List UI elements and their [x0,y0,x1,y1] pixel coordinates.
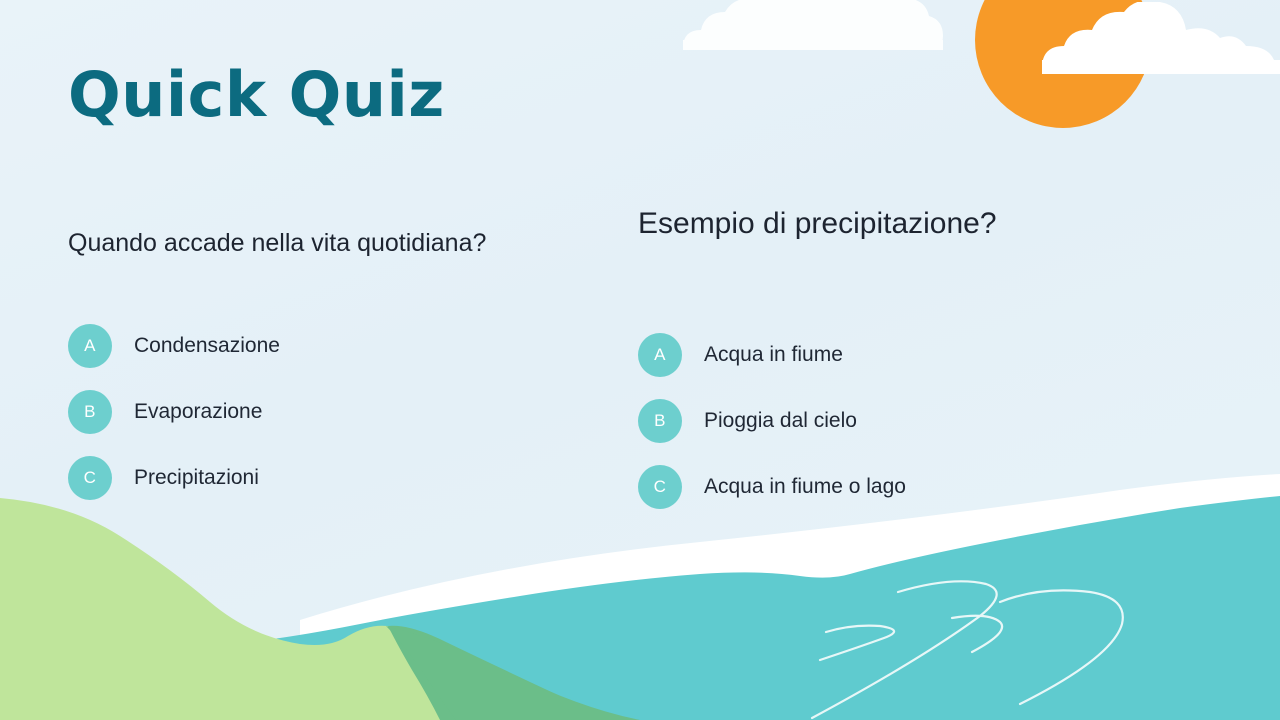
list-item[interactable]: A Condensazione [68,324,608,368]
list-item[interactable]: C Acqua in fiume o lago [638,465,1198,509]
option-label: Acqua in fiume o lago [704,475,906,499]
option-label: Pioggia dal cielo [704,409,857,433]
option-label: Condensazione [134,334,280,358]
cloud-right-icon [1040,2,1280,78]
foam-lip-shape [150,658,193,680]
option-label: Precipitazioni [134,466,259,490]
option-badge-b: B [638,399,682,443]
option-badge-c: C [638,465,682,509]
quiz-column-left: Quando accade nella vita quotidiana? A C… [68,228,608,522]
quiz-slide: Quick Quiz Quando accade nella vita quot… [0,0,1280,720]
quiz-column-right: Esempio di precipitazione? A Acqua in fi… [638,205,1198,531]
option-badge-c: C [68,456,112,500]
list-item[interactable]: B Evaporazione [68,390,608,434]
question-right: Esempio di precipitazione? [638,205,1198,243]
question-left: Quando accade nella vita quotidiana? [68,228,608,259]
option-label: Evaporazione [134,400,262,424]
list-item[interactable]: C Precipitazioni [68,456,608,500]
option-list-right: A Acqua in fiume B Pioggia dal cielo C A… [638,333,1198,509]
list-item[interactable]: B Pioggia dal cielo [638,399,1198,443]
sun-icon [975,0,1151,128]
hill-dark-shape-2 [386,626,640,720]
hill-dark-shape [388,626,640,720]
hill-light-shape [0,498,500,720]
cloud-left-icon [675,0,955,56]
option-badge-b: B [68,390,112,434]
option-label: Acqua in fiume [704,343,843,367]
option-list-left: A Condensazione B Evaporazione C Precipi… [68,324,608,500]
option-badge-a: A [68,324,112,368]
page-title: Quick Quiz [68,58,445,131]
option-badge-a: A [638,333,682,377]
list-item[interactable]: A Acqua in fiume [638,333,1198,377]
wave-line-decoration [812,581,1123,718]
